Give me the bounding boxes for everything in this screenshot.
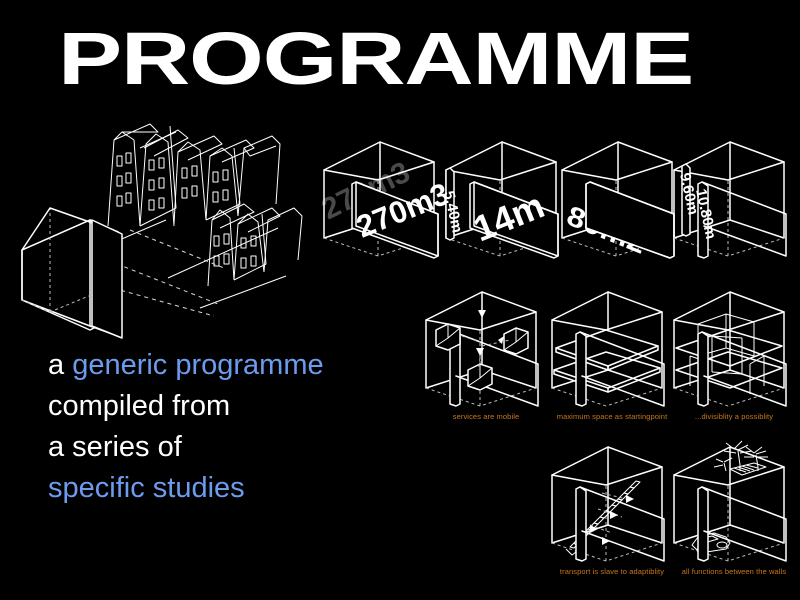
metric-box-volume: 270m3 270m3 — [318, 128, 450, 264]
copy-line-3: a series of — [48, 427, 448, 468]
copy-line-1-blue: generic programme — [72, 349, 323, 381]
context-diagram — [18, 108, 318, 318]
study-caption-functions: all functions between the walls — [659, 567, 800, 576]
transport-stairs-icon — [546, 441, 678, 563]
canal-houses-icon — [18, 108, 318, 318]
copy-line-1-white: a — [48, 349, 72, 381]
max-space-icon — [546, 286, 678, 408]
copy-line-4: specific studies — [48, 468, 448, 509]
study-diagram-functions: all functions between the walls — [668, 441, 800, 563]
metric-box-heights: 9.60m 10.80m — [668, 128, 800, 264]
study-diagram-max-space: maximum space as startingpoint — [546, 286, 678, 408]
functions-between-walls-icon — [668, 441, 800, 563]
body-copy: a generic programme compiled from a seri… — [48, 345, 448, 509]
box-dimensions-icon: 5.40m 14m — [440, 128, 572, 264]
study-caption-divisibility: ...divisiblity a possiblity — [659, 412, 800, 421]
divisibility-icon — [668, 286, 800, 408]
study-diagram-transport: transport is slave to adaptiblity — [546, 441, 678, 563]
metric-box-dimensions: 5.40m 14m — [440, 128, 572, 264]
study-diagram-divisibility: ...divisiblity a possiblity — [668, 286, 800, 408]
box-heights-icon: 9.60m 10.80m — [668, 128, 800, 264]
copy-line-1: a generic programme — [48, 345, 448, 386]
slide-canvas: PROGRAMME — [0, 0, 800, 600]
copy-line-2: compiled from — [48, 386, 448, 427]
svg-text:5.40m: 5.40m — [440, 189, 465, 234]
box-270m3-icon: 270m3 270m3 — [318, 128, 450, 264]
page-title: PROGRAMME — [58, 22, 800, 96]
